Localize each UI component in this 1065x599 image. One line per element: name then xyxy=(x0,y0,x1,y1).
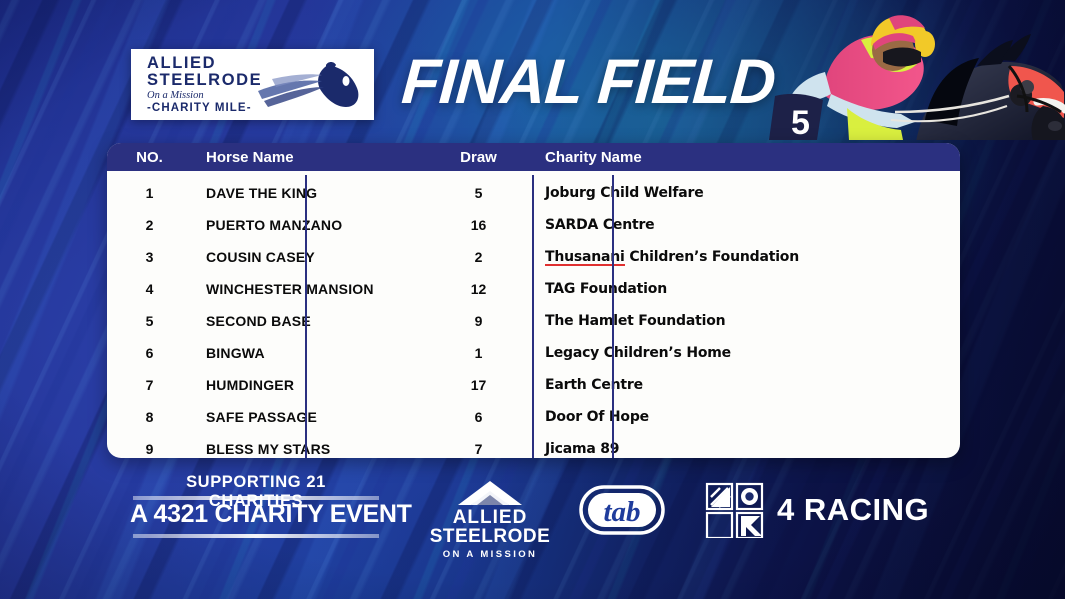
cell-number: 1 xyxy=(107,185,192,201)
table-body: 1DAVE THE KING5Joburg Child Welfare2PUER… xyxy=(107,171,960,458)
logo-line-on-a-mission: On a Mission xyxy=(147,91,262,102)
cell-horse-name: WINCHESTER MANSION xyxy=(192,281,426,297)
tab-sponsor-logo: tab xyxy=(578,484,666,536)
column-divider-3 xyxy=(612,175,614,458)
cell-draw: 6 xyxy=(426,409,531,425)
cell-horse-name: BINGWA xyxy=(192,345,426,361)
cell-number: 4 xyxy=(107,281,192,297)
column-header-draw: Draw xyxy=(426,149,531,166)
column-header-charity: Charity Name xyxy=(531,149,960,166)
cell-number: 9 xyxy=(107,441,192,457)
logo-line-steelrode: STEELRODE xyxy=(147,72,262,89)
cell-charity-name: The Hamlet Foundation xyxy=(531,313,960,329)
column-divider-1 xyxy=(305,175,307,458)
horse-head-icon xyxy=(256,61,368,114)
cell-horse-name: BLESS MY STARS xyxy=(192,441,426,457)
footer-logo-line-allied: ALLIED xyxy=(425,508,555,527)
cell-charity-name: TAG Foundation xyxy=(531,281,960,297)
cell-number: 3 xyxy=(107,249,192,265)
cell-horse-name: COUSIN CASEY xyxy=(192,249,426,265)
cell-horse-name: HUMDINGER xyxy=(192,377,426,393)
footer-logo-line-mission: ON A MISSION xyxy=(425,549,555,560)
four-racing-wordmark: 4 RACING xyxy=(777,492,929,528)
cell-number: 8 xyxy=(107,409,192,425)
cell-draw: 9 xyxy=(426,313,531,329)
cell-draw: 5 xyxy=(426,185,531,201)
logo-wordmark: ALLIED STEELRODE On a Mission -CHARITY M… xyxy=(131,55,262,115)
final-field-table: NO. Horse Name Draw Charity Name 1DAVE T… xyxy=(107,143,960,458)
poster-canvas: 5 ALLIED STEELRODE On a Mission -CHARITY… xyxy=(0,0,1065,599)
cell-charity-name: Joburg Child Welfare xyxy=(531,185,960,201)
tab-wordmark: tab xyxy=(603,496,640,528)
jockey-horse-photo: 5 xyxy=(765,0,1065,140)
page-title: FINAL FIELD xyxy=(399,46,784,118)
cell-charity-name: SARDA Centre xyxy=(531,217,960,233)
cell-number: 2 xyxy=(107,217,192,233)
cell-number: 7 xyxy=(107,377,192,393)
cell-charity-name: Door Of Hope xyxy=(531,409,960,425)
cell-draw: 1 xyxy=(426,345,531,361)
svg-text:5: 5 xyxy=(791,104,810,140)
cell-charity-name: Legacy Children’s Home xyxy=(531,345,960,361)
cell-horse-name: SAFE PASSAGE xyxy=(192,409,426,425)
cell-draw: 17 xyxy=(426,377,531,393)
allied-steelrode-charity-mile-logo: ALLIED STEELRODE On a Mission -CHARITY M… xyxy=(131,49,374,120)
cell-draw: 12 xyxy=(426,281,531,297)
four-racing-mark-icon xyxy=(705,482,765,538)
footer-rule-bottom xyxy=(133,534,379,538)
cell-draw: 7 xyxy=(426,441,531,457)
table-header-row: NO. Horse Name Draw Charity Name xyxy=(107,143,960,171)
cell-draw: 2 xyxy=(426,249,531,265)
column-divider-2 xyxy=(532,175,534,458)
footer-logo-line-steelrode: STEELRODE xyxy=(425,527,555,546)
cell-horse-name: PUERTO MANZANO xyxy=(192,217,426,233)
allied-steelrode-chevron-icon xyxy=(447,480,533,506)
cell-number: 6 xyxy=(107,345,192,361)
cell-horse-name: SECOND BASE xyxy=(192,313,426,329)
logo-line-allied: ALLIED xyxy=(147,55,262,72)
cell-number: 5 xyxy=(107,313,192,329)
logo-line-charity-mile: -CHARITY MILE- xyxy=(147,103,262,115)
column-header-horse: Horse Name xyxy=(192,149,426,166)
allied-steelrode-footer-logo: ALLIED STEELRODE ON A MISSION xyxy=(425,480,555,560)
cell-charity-name: Thusanani Children’s Foundation xyxy=(531,249,960,265)
cell-charity-name: Jicama 89 xyxy=(531,441,960,457)
cell-draw: 16 xyxy=(426,217,531,233)
column-header-no: NO. xyxy=(107,149,192,166)
charity-event-label: A 4321 CHARITY EVENT xyxy=(130,500,382,529)
cell-charity-name: Earth Centre xyxy=(531,377,960,393)
cell-horse-name: DAVE THE KING xyxy=(192,185,426,201)
